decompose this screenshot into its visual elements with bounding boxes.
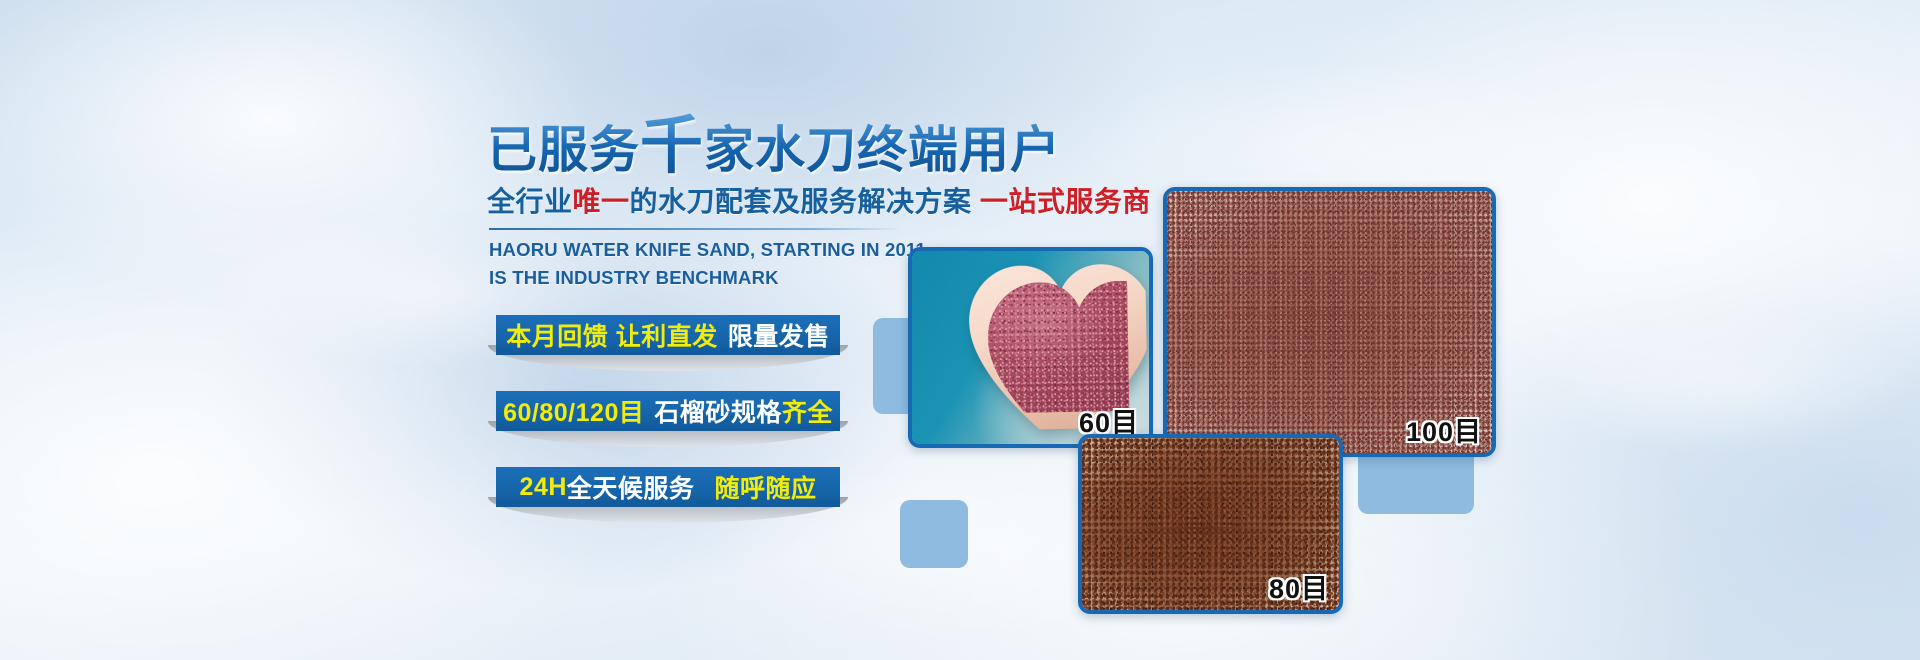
subtitle-highlight-onestop: 一站式服务商	[980, 186, 1151, 217]
subtitle-part-1: 全行业	[487, 186, 573, 217]
english-line-1: HAORU WATER KNIFE SAND, STARTING IN 2011	[489, 236, 926, 264]
headline-emphasis: 千	[640, 111, 704, 181]
feature-bar-content: 本月回馈 让利直发限量发售	[496, 315, 840, 355]
feature-bar-content: 60/80/120目石榴砂规格齐全	[496, 391, 840, 431]
feature-bar-2: 60/80/120目石榴砂规格齐全	[496, 391, 840, 431]
product-label-100: 100目	[1406, 410, 1482, 449]
feature-3-white-1: 全天候服务	[567, 469, 695, 505]
feature-bar-1: 本月回馈 让利直发限量发售	[496, 315, 840, 355]
product-label-80: 80目	[1269, 567, 1329, 606]
subtitle: 全行业唯一的水刀配套及服务解决方案 一站式服务商	[487, 180, 1151, 220]
feature-bar-3: 24H全天候服务随呼随应	[496, 467, 840, 507]
promo-banner: 已服务千家水刀终端用户 全行业唯一的水刀配套及服务解决方案 一站式服务商 HAO…	[0, 0, 1920, 660]
divider	[489, 228, 901, 230]
product-card-80[interactable]: 80目	[1078, 434, 1343, 614]
feature-2-yellow-2: 齐全	[782, 393, 833, 429]
feature-bar-content: 24H全天候服务随呼随应	[496, 467, 840, 507]
product-card-60[interactable]: 60目	[908, 247, 1153, 448]
english-tagline: HAORU WATER KNIFE SAND, STARTING IN 2011…	[489, 236, 926, 292]
page-title: 已服务千家水刀终端用户	[487, 110, 1061, 182]
subtitle-part-2: 的水刀配套及服务解决方案	[630, 186, 972, 217]
product-card-100[interactable]: 100目	[1163, 187, 1496, 457]
feature-1-white-1: 限量发售	[728, 317, 830, 353]
feature-2-white-1: 石榴砂规格	[654, 393, 782, 429]
feature-3-yellow-1: 24H	[520, 473, 567, 502]
subtitle-highlight-unique: 唯一	[573, 186, 630, 217]
feature-2-yellow-1: 60/80/120目	[503, 393, 644, 429]
feature-1-yellow-1: 本月回馈 让利直发	[506, 317, 717, 353]
english-line-2: IS THE INDUSTRY BENCHMARK	[489, 264, 926, 292]
garnet-sand-heart	[979, 274, 1129, 412]
feature-3-yellow-2: 随呼随应	[714, 469, 816, 505]
headline-part-1: 已服务	[487, 122, 640, 178]
headline-part-2: 家水刀终端用户	[704, 122, 1061, 178]
decorative-square-bottom	[900, 500, 968, 568]
